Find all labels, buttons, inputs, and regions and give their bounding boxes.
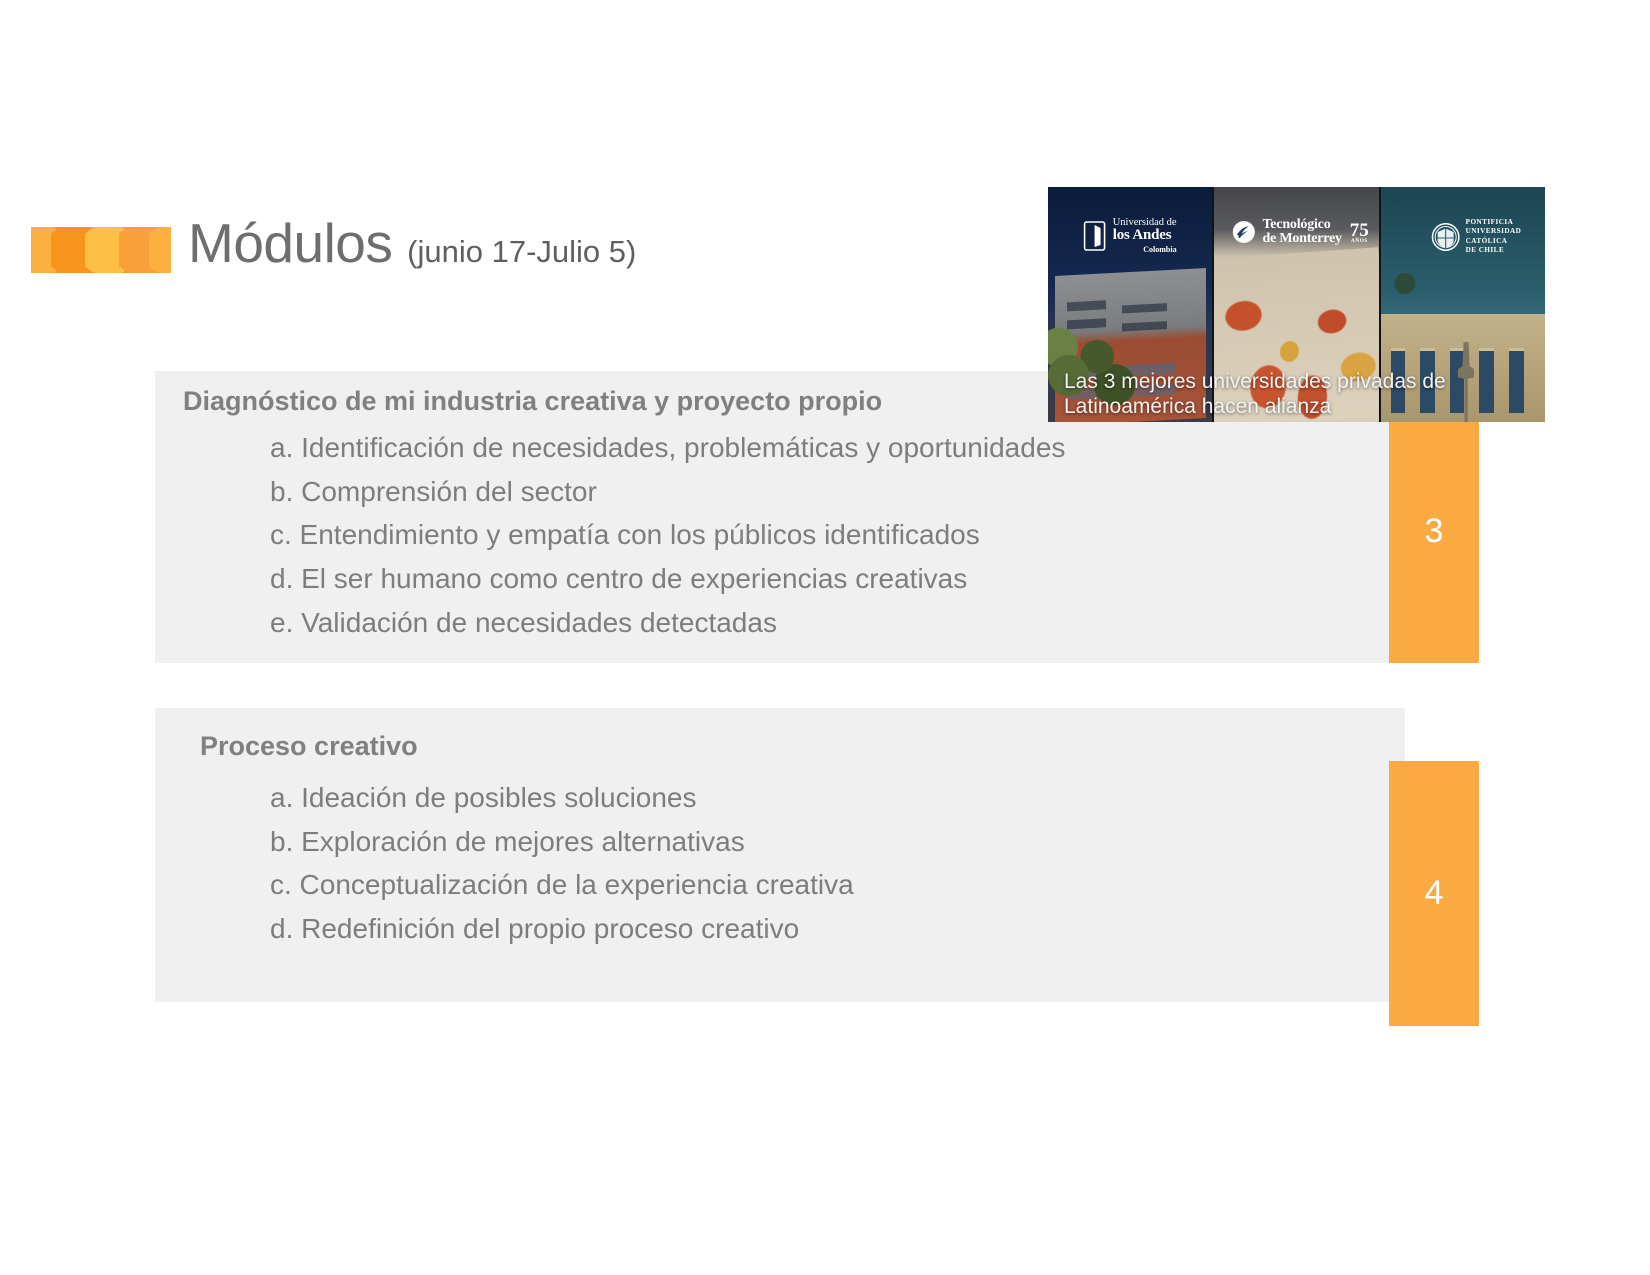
list-item: e. Validación de necesidades detectadas <box>270 601 1065 645</box>
anniversary-75-badge: 75 AÑOS <box>1350 222 1369 244</box>
puc-chile-crest-icon <box>1431 222 1461 252</box>
module-heading: Diagnóstico de mi industria creativa y p… <box>183 386 882 417</box>
universities-alliance-banner: Universidad de los Andes Colombia <box>1048 187 1545 422</box>
list-item: c. Entendimiento y empatía con los públi… <box>270 513 1065 557</box>
puc-chile-logo: PONTIFICIA UNIVERSIDAD CATÓLICA DE CHILE <box>1431 218 1522 256</box>
module-heading: Proceso creativo <box>200 731 418 762</box>
list-item: d. El ser humano como centro de experien… <box>270 557 1065 601</box>
uniandes-line-3: Colombia <box>1113 246 1177 254</box>
puc-line-2: UNIVERSIDAD <box>1466 227 1522 237</box>
puc-chile-logo-text: PONTIFICIA UNIVERSIDAD CATÓLICA DE CHILE <box>1466 218 1522 256</box>
module-item-list: a. Ideación de posibles soluciones b. Ex… <box>270 776 854 951</box>
list-item: b. Exploración de mejores alternativas <box>270 820 854 864</box>
list-item: a. Ideación de posibles soluciones <box>270 776 854 820</box>
tec-monterrey-icon <box>1231 220 1255 244</box>
uniandes-logo: Universidad de los Andes Colombia <box>1084 218 1177 254</box>
tec-monterrey-logo-text: Tecnológico de Monterrey <box>1262 218 1341 247</box>
module-number-badge-3: 3 <box>1389 400 1479 663</box>
page-title-date-range: (junio 17-Julio 5) <box>407 234 636 269</box>
uniandes-book-icon <box>1084 221 1106 251</box>
list-item: c. Conceptualización de la experiencia c… <box>270 863 854 907</box>
hexagon-pattern-icon <box>31 227 171 273</box>
banner-caption: Las 3 mejores universidades privadas de … <box>1064 370 1535 420</box>
page-title-text: Módulos <box>188 212 392 274</box>
module-card-4: Proceso creativo a. Ideación de posibles… <box>155 708 1405 1002</box>
list-item: a. Identificación de necesidades, proble… <box>270 426 1065 470</box>
palm-tree-shape <box>1387 248 1423 319</box>
uniandes-line-2: los Andes <box>1113 228 1177 243</box>
module-number-badge-4: 4 <box>1389 761 1479 1026</box>
uniandes-logo-text: Universidad de los Andes Colombia <box>1113 218 1177 254</box>
tec-line-1: Tecnológico <box>1262 218 1341 232</box>
tec-line-2: de Monterrey <box>1262 232 1341 246</box>
list-item: b. Comprensión del sector <box>270 470 1065 514</box>
puc-line-1: PONTIFICIA <box>1466 218 1522 228</box>
slide-title-row: Módulos (junio 17-Julio 5) <box>0 205 1000 295</box>
slide-root: Módulos (junio 17-Julio 5) Diagnóstico d… <box>0 0 1650 1275</box>
anniversary-label: AÑOS <box>1350 239 1369 244</box>
page-title: Módulos (junio 17-Julio 5) <box>188 211 636 275</box>
puc-line-3: CATÓLICA <box>1466 237 1522 247</box>
puc-line-4: DE CHILE <box>1466 246 1522 256</box>
list-item: d. Redefinición del propio proceso creat… <box>270 907 854 951</box>
tec-monterrey-logo: Tecnológico de Monterrey <box>1231 218 1341 247</box>
module-item-list: a. Identificación de necesidades, proble… <box>270 426 1065 644</box>
